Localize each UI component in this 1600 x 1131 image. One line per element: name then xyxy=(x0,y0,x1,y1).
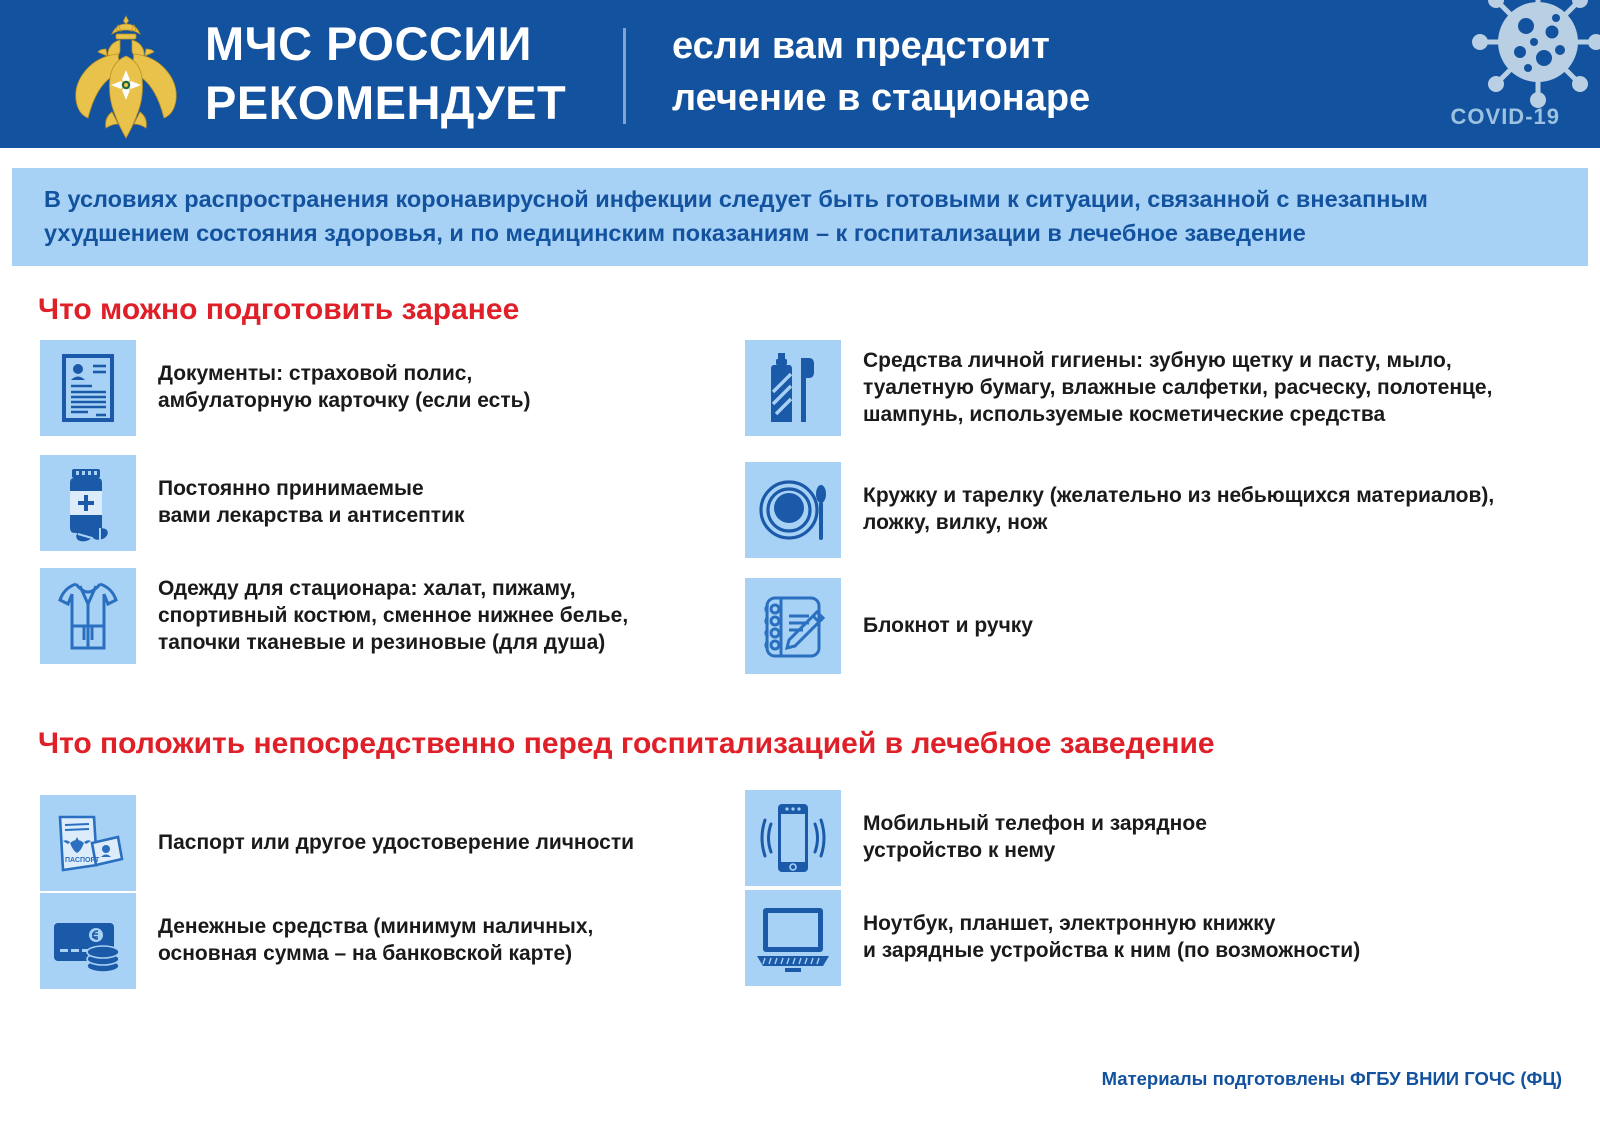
passport-id-card-icon: ПАСПОРТ xyxy=(40,795,136,891)
text-line: Паспорт или другое удостоверение личност… xyxy=(158,829,634,856)
virus-graphic-area: COVID-19 xyxy=(1420,0,1600,148)
document-with-photo-icon xyxy=(40,340,136,436)
text-line: ложку, вилку, нож xyxy=(863,509,1494,536)
text-line: амбулаторную карточку (если есть) xyxy=(158,387,531,414)
text-line: Постоянно принимаемые xyxy=(158,475,465,502)
mobile-phone-icon xyxy=(745,790,841,886)
text-line: Блокнот и ручку xyxy=(863,612,1033,639)
text-line: Денежные средства (минимум наличных, xyxy=(158,913,593,940)
text-line: устройство к нему xyxy=(863,837,1207,864)
list-item-passport: ПАСПОРТ Паспорт или другое удостоверение… xyxy=(40,795,634,891)
mchs-double-headed-eagle-emblem-icon xyxy=(62,12,190,144)
list-item-text: Блокнот и ручку xyxy=(863,578,1033,639)
text-line: спортивный костюм, сменное нижнее белье, xyxy=(158,602,628,629)
list-item-mobile-phone: Мобильный телефон и зарядное устройство … xyxy=(745,790,1207,886)
infographic-page: МЧС РОССИИ РЕКОМЕНДУЕТ если вам предстои… xyxy=(0,0,1600,1131)
section-1-heading: Что можно подготовить заранее xyxy=(38,293,519,327)
covid-label: COVID-19 xyxy=(1451,104,1560,130)
section-2-heading: Что положить непосредственно перед госпи… xyxy=(38,727,1215,761)
medicine-bottle-pills-icon xyxy=(40,455,136,551)
subtitle-line-2: лечение в стационаре xyxy=(672,72,1372,124)
list-item-text: Средства личной гигиены: зубную щетку и … xyxy=(863,340,1492,428)
list-item-text: Мобильный телефон и зарядное устройство … xyxy=(863,790,1207,864)
intro-line-1: В условиях распространения коронавирусно… xyxy=(44,182,1564,216)
header-bar: МЧС РОССИИ РЕКОМЕНДУЕТ если вам предстои… xyxy=(0,0,1600,148)
intro-banner: В условиях распространения коронавирусно… xyxy=(12,168,1588,266)
text-line: и зарядные устройства к ним (по возможно… xyxy=(863,937,1360,964)
text-line: Кружку и тарелку (желательно из небьющих… xyxy=(863,482,1494,509)
intro-banner-text: В условиях распространения коронавирусно… xyxy=(44,182,1564,250)
list-item-documents: Документы: страховой полис, амбулаторную… xyxy=(40,340,531,436)
list-item-text: Одежду для стационара: халат, пижаму, сп… xyxy=(158,568,628,656)
list-item-laptop: Ноутбук, планшет, электронную книжку и з… xyxy=(745,890,1360,986)
title-line-1: МЧС РОССИИ xyxy=(205,14,595,73)
bathrobe-icon xyxy=(40,568,136,664)
list-item-text: Кружку и тарелку (желательно из небьющих… xyxy=(863,462,1494,536)
list-item-medicines: Постоянно принимаемые вами лекарства и а… xyxy=(40,455,465,551)
list-item-text: Документы: страховой полис, амбулаторную… xyxy=(158,340,531,414)
list-item-hygiene: Средства личной гигиены: зубную щетку и … xyxy=(745,340,1492,436)
plate-spoon-icon xyxy=(745,462,841,558)
intro-line-2: ухудшением состояния здоровья, и по меди… xyxy=(44,216,1564,250)
bank-card-coins-icon xyxy=(40,893,136,989)
subtitle-line-1: если вам предстоит xyxy=(672,20,1372,72)
organization-title: МЧС РОССИИ РЕКОМЕНДУЕТ xyxy=(205,14,595,132)
footer-credit: Материалы подготовлены ФГБУ ВНИИ ГОЧС (Ф… xyxy=(1102,1068,1562,1090)
text-line: шампунь, используемые косметические сред… xyxy=(863,401,1492,428)
text-line: Документы: страховой полис, xyxy=(158,360,531,387)
text-line: Мобильный телефон и зарядное xyxy=(863,810,1207,837)
list-item-text: Ноутбук, планшет, электронную книжку и з… xyxy=(863,890,1360,964)
toothpaste-toothbrush-icon xyxy=(745,340,841,436)
title-line-2: РЕКОМЕНДУЕТ xyxy=(205,73,595,132)
list-item-text: Денежные средства (минимум наличных, осн… xyxy=(158,893,593,967)
coronavirus-icon xyxy=(1468,0,1600,112)
text-line: вами лекарства и антисептик xyxy=(158,502,465,529)
text-line: основная сумма – на банковской карте) xyxy=(158,940,593,967)
list-item-notepad: Блокнот и ручку xyxy=(745,578,1033,674)
list-item-text: Паспорт или другое удостоверение личност… xyxy=(158,795,634,856)
list-item-text: Постоянно принимаемые вами лекарства и а… xyxy=(158,455,465,529)
header-subtitle: если вам предстоит лечение в стационаре xyxy=(672,20,1372,124)
notepad-pen-icon xyxy=(745,578,841,674)
list-item-clothing: Одежду для стационара: халат, пижаму, сп… xyxy=(40,568,628,664)
list-item-money: Денежные средства (минимум наличных, осн… xyxy=(40,893,593,989)
text-line: тапочки тканевые и резиновые (для душа) xyxy=(158,629,628,656)
header-divider xyxy=(623,28,626,124)
text-line: Средства личной гигиены: зубную щетку и … xyxy=(863,347,1492,374)
text-line: туалетную бумагу, влажные салфетки, расч… xyxy=(863,374,1492,401)
text-line: Ноутбук, планшет, электронную книжку xyxy=(863,910,1360,937)
laptop-icon xyxy=(745,890,841,986)
list-item-dishes: Кружку и тарелку (желательно из небьющих… xyxy=(745,462,1494,558)
passport-caption: ПАСПОРТ xyxy=(65,857,100,864)
text-line: Одежду для стационара: халат, пижаму, xyxy=(158,575,628,602)
